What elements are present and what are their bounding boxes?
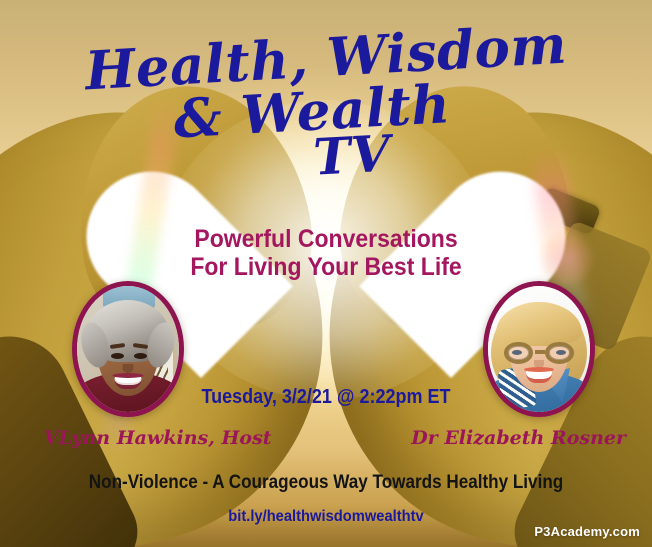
heart-shape <box>201 178 451 398</box>
tagline-line-2: For Living Your Best Life <box>26 253 626 281</box>
guest-glasses-bridge <box>535 350 545 354</box>
host-name-label: VLynn Hawkins, Host <box>44 427 272 449</box>
promo-flyer: Health, Wisdom & Wealth TV Powerful Conv… <box>0 0 652 547</box>
host-portrait <box>72 281 184 417</box>
brand-watermark: P3Academy.com <box>534 524 640 539</box>
episode-topic: Non-Violence - A Courageous Way Towards … <box>33 472 620 494</box>
host-upper-lip <box>113 373 144 378</box>
show-tagline: Powerful Conversations For Living Your B… <box>26 225 626 281</box>
host-eye-left <box>111 353 124 359</box>
host-photo <box>77 286 179 412</box>
guest-lens-left <box>504 342 533 364</box>
host-nose <box>123 364 134 373</box>
guest-photo <box>488 286 590 412</box>
guest-upper-lip <box>524 367 554 372</box>
guest-lens-right <box>545 342 574 364</box>
guest-portrait <box>483 281 595 417</box>
host-eye-right <box>134 353 147 359</box>
tagline-line-1: Powerful Conversations <box>26 225 626 253</box>
guest-name-label: Dr Elizabeth Rosner <box>411 427 626 449</box>
